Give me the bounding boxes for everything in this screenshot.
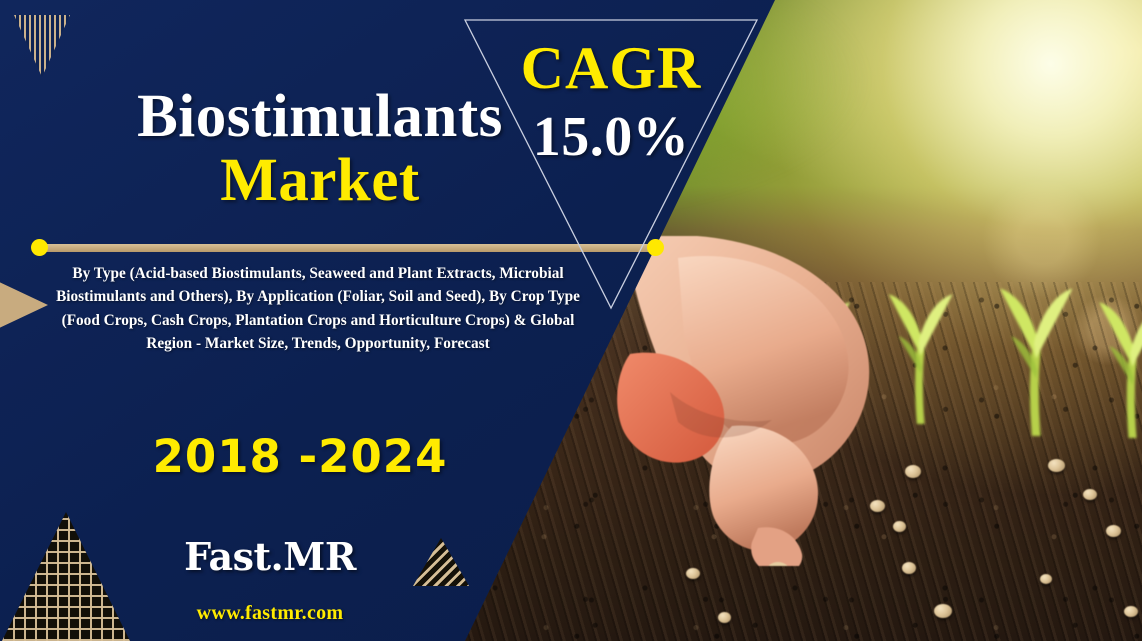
cagr-value: 15.0%: [463, 105, 759, 169]
seed: [1040, 574, 1052, 584]
website-url[interactable]: www.fastmr.com: [60, 602, 480, 625]
brand-logo: Fast.MR: [60, 534, 480, 579]
cagr-label: CAGR: [463, 34, 759, 103]
seed: [718, 612, 731, 623]
divider-rule: [40, 244, 656, 252]
seedling-icon: [1090, 300, 1142, 438]
report-scope-description: By Type (Acid-based Biostimulants, Seawe…: [48, 262, 588, 355]
seed: [686, 568, 700, 579]
seed: [934, 604, 952, 618]
seedling-icon: [990, 286, 1083, 436]
forecast-period: 2018 -2024: [60, 430, 540, 483]
report-banner: Biostimulants Market CAGR 15.0% By Type …: [0, 0, 1142, 641]
yellow-dot-icon: [647, 239, 664, 256]
seed: [1083, 489, 1097, 500]
hand-planting-seeds: [612, 236, 912, 566]
seed: [1106, 525, 1121, 537]
seed: [1048, 459, 1065, 472]
yellow-dot-icon: [31, 239, 48, 256]
seed: [1124, 606, 1138, 617]
